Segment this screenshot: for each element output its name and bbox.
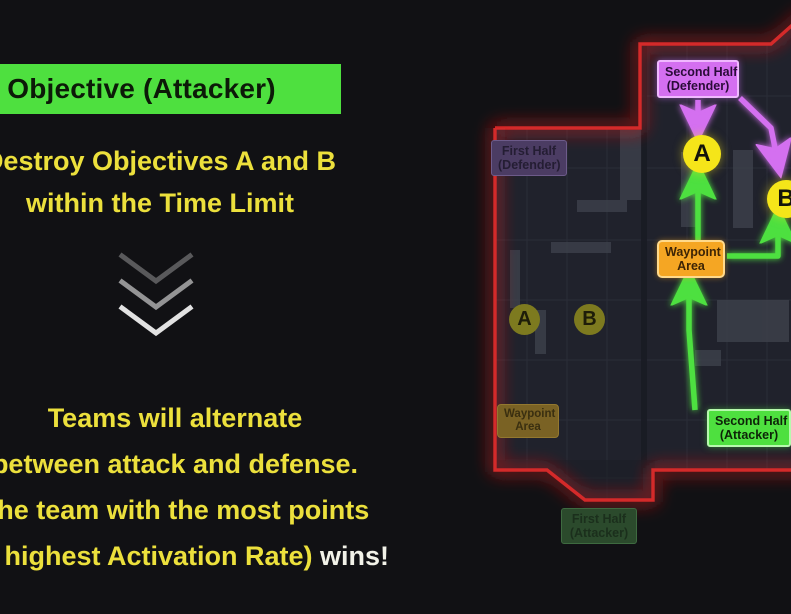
rules-line-4: (or highest Activation Rate) wins! xyxy=(0,533,410,579)
rules-line-4-emphasis: wins! xyxy=(320,541,389,571)
map-label-line-2: Area xyxy=(665,259,717,273)
objective-marker-b-inactive[interactable]: B xyxy=(574,304,605,335)
map-label-first-half-attacker[interactable]: First Half (Attacker) xyxy=(561,508,637,544)
headline-block: Destroy Objectives A and B within the Ti… xyxy=(0,140,370,224)
objective-marker-a-active[interactable]: A xyxy=(683,135,721,173)
chevron-down-icon xyxy=(118,304,194,338)
objective-title-banner: Objective (Attacker) xyxy=(0,64,341,114)
map-label-line-2: (Defender) xyxy=(498,158,560,172)
rules-line-1: Teams will alternate xyxy=(0,395,410,441)
page-title: Objective (Attacker) xyxy=(7,73,276,105)
map-label-waypoint-area-right[interactable]: Waypoint Area xyxy=(657,240,725,278)
map-label-line-1: First Half xyxy=(498,144,560,158)
map-label-line-1: Second Half xyxy=(665,65,731,79)
slide-root: Objective (Attacker) Destroy Objectives … xyxy=(0,0,791,614)
rules-block: Teams will alternate between attack and … xyxy=(0,395,410,579)
map-label-line-1: First Half xyxy=(568,512,630,526)
rules-line-4-prefix: (or highest Activation Rate) xyxy=(0,541,320,571)
objective-marker-a-inactive[interactable]: A xyxy=(509,304,540,335)
triple-chevron-down-icon xyxy=(118,252,210,348)
map-label-line-1: Waypoint xyxy=(665,245,717,259)
map-label-waypoint-area-left[interactable]: Waypoint Area xyxy=(497,404,559,438)
map-label-second-half-defender[interactable]: Second Half (Defender) xyxy=(657,60,739,98)
map-label-line-2: (Attacker) xyxy=(568,526,630,540)
map-label-line-1: Waypoint xyxy=(504,408,552,421)
map-label-line-2: (Defender) xyxy=(665,79,731,93)
map-label-first-half-defender[interactable]: First Half (Defender) xyxy=(491,140,567,176)
headline-line-1: Destroy Objectives A and B xyxy=(0,140,370,182)
map-label-line-1: Second Half xyxy=(715,414,783,428)
map-label-second-half-attacker[interactable]: Second Half (Attacker) xyxy=(707,409,791,447)
map-label-line-2: Area xyxy=(504,421,552,434)
rules-line-3: The team with the most points xyxy=(0,487,410,533)
headline-line-2: within the Time Limit xyxy=(0,182,370,224)
rules-line-2: between attack and defense. xyxy=(0,441,410,487)
info-panel: Objective (Attacker) Destroy Objectives … xyxy=(0,0,455,614)
tactical-map: First Half (Defender) Second Half (Defen… xyxy=(455,0,791,614)
map-label-line-2: (Attacker) xyxy=(715,428,783,442)
